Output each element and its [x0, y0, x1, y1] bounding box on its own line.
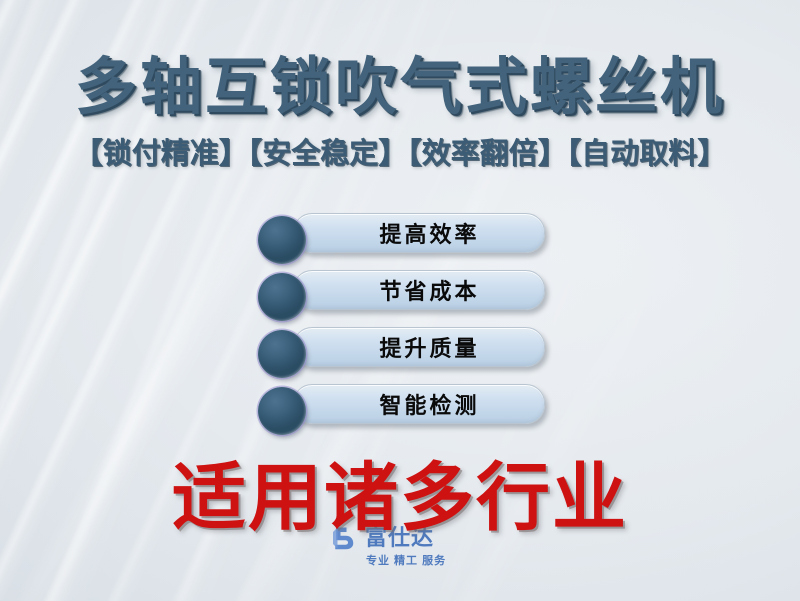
headline-block: 多轴互锁吹气式螺丝机 【锁付精准】【安全稳定】【效率翻倍】【自动取料】	[0, 56, 800, 172]
feature-pill: 提高效率	[293, 213, 545, 253]
feature-item-2: 节省成本	[258, 270, 558, 327]
feature-list: 提高效率 节省成本 提升质量 智能检测	[258, 213, 558, 441]
feature-pill: 提升质量	[293, 327, 545, 367]
feature-pill: 智能检测	[293, 384, 545, 424]
feature-label: 提高效率	[358, 217, 479, 249]
sub-title-features: 【锁付精准】【安全稳定】【效率翻倍】【自动取料】	[0, 130, 800, 172]
feature-label: 节省成本	[358, 274, 479, 306]
tagline-block: 适用诸多行业	[0, 462, 800, 562]
promotional-poster: 多轴互锁吹气式螺丝机 【锁付精准】【安全稳定】【效率翻倍】【自动取料】 提高效率…	[0, 0, 800, 601]
feature-item-3: 提升质量	[258, 327, 558, 384]
bullet-circle-icon	[258, 330, 306, 378]
feature-label: 智能检测	[358, 388, 479, 420]
main-title: 多轴互锁吹气式螺丝机	[0, 56, 800, 120]
tagline-text: 适用诸多行业	[0, 462, 800, 536]
feature-label: 提升质量	[358, 331, 479, 363]
bullet-circle-icon	[258, 216, 306, 264]
feature-item-1: 提高效率	[258, 213, 558, 270]
feature-pill: 节省成本	[293, 270, 545, 310]
feature-item-4: 智能检测	[258, 384, 558, 441]
bullet-circle-icon	[258, 387, 306, 435]
bullet-circle-icon	[258, 273, 306, 321]
